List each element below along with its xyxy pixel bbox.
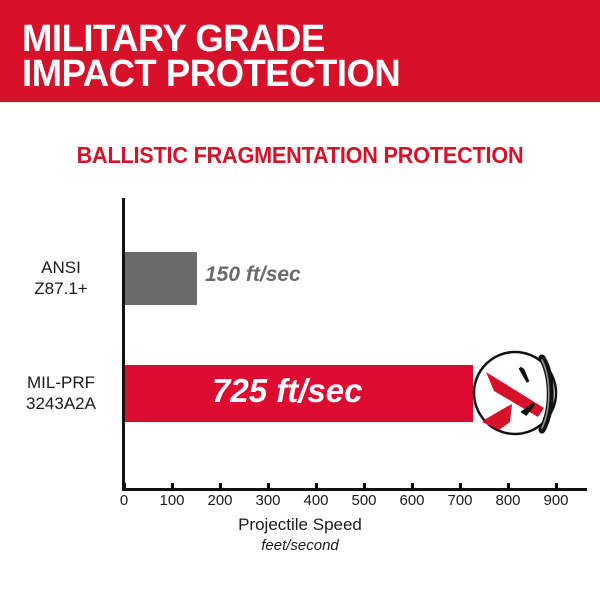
bar-chart: ANSI Z87.1+ MIL-PRF 3243A2A 150 ft/sec 7… bbox=[0, 0, 600, 600]
x-tick-label: 0 bbox=[104, 492, 144, 509]
x-tick-label: 700 bbox=[440, 492, 480, 509]
x-tick-mark bbox=[555, 483, 558, 490]
value-label-mil-prf: 725 ft/sec bbox=[212, 372, 362, 410]
x-tick-label: 900 bbox=[536, 492, 576, 509]
impact-fragment-icon bbox=[468, 346, 562, 440]
x-tick-label: 200 bbox=[200, 492, 240, 509]
x-tick-mark bbox=[411, 483, 414, 490]
x-tick-label: 100 bbox=[152, 492, 192, 509]
x-tick-label: 500 bbox=[344, 492, 384, 509]
category-label-mil-prf-line1: MIL-PRF bbox=[6, 372, 116, 393]
x-tick-label: 400 bbox=[296, 492, 336, 509]
x-tick-mark bbox=[267, 483, 270, 490]
category-label-ansi-line1: ANSI bbox=[6, 257, 116, 278]
x-tick-label: 800 bbox=[488, 492, 528, 509]
x-axis-line bbox=[122, 488, 587, 491]
category-label-mil-prf-line2: 3243A2A bbox=[6, 393, 116, 414]
x-tick-mark bbox=[219, 483, 222, 490]
x-tick-mark bbox=[315, 483, 318, 490]
y-axis-line bbox=[122, 198, 125, 490]
category-label-ansi: ANSI Z87.1+ bbox=[6, 257, 116, 299]
category-label-ansi-line2: Z87.1+ bbox=[6, 278, 116, 299]
x-tick-mark bbox=[363, 483, 366, 490]
x-tick-mark bbox=[459, 483, 462, 490]
category-label-mil-prf: MIL-PRF 3243A2A bbox=[6, 372, 116, 414]
value-label-ansi: 150 ft/sec bbox=[205, 263, 301, 287]
x-axis-subtitle: feet/second bbox=[0, 537, 600, 554]
x-tick-mark bbox=[123, 483, 126, 490]
x-tick-mark bbox=[171, 483, 174, 490]
bar-ansi-z87 bbox=[125, 252, 197, 305]
x-tick-label: 600 bbox=[392, 492, 432, 509]
x-tick-label: 300 bbox=[248, 492, 288, 509]
x-axis-title: Projectile Speed bbox=[0, 515, 600, 535]
x-tick-mark bbox=[507, 483, 510, 490]
